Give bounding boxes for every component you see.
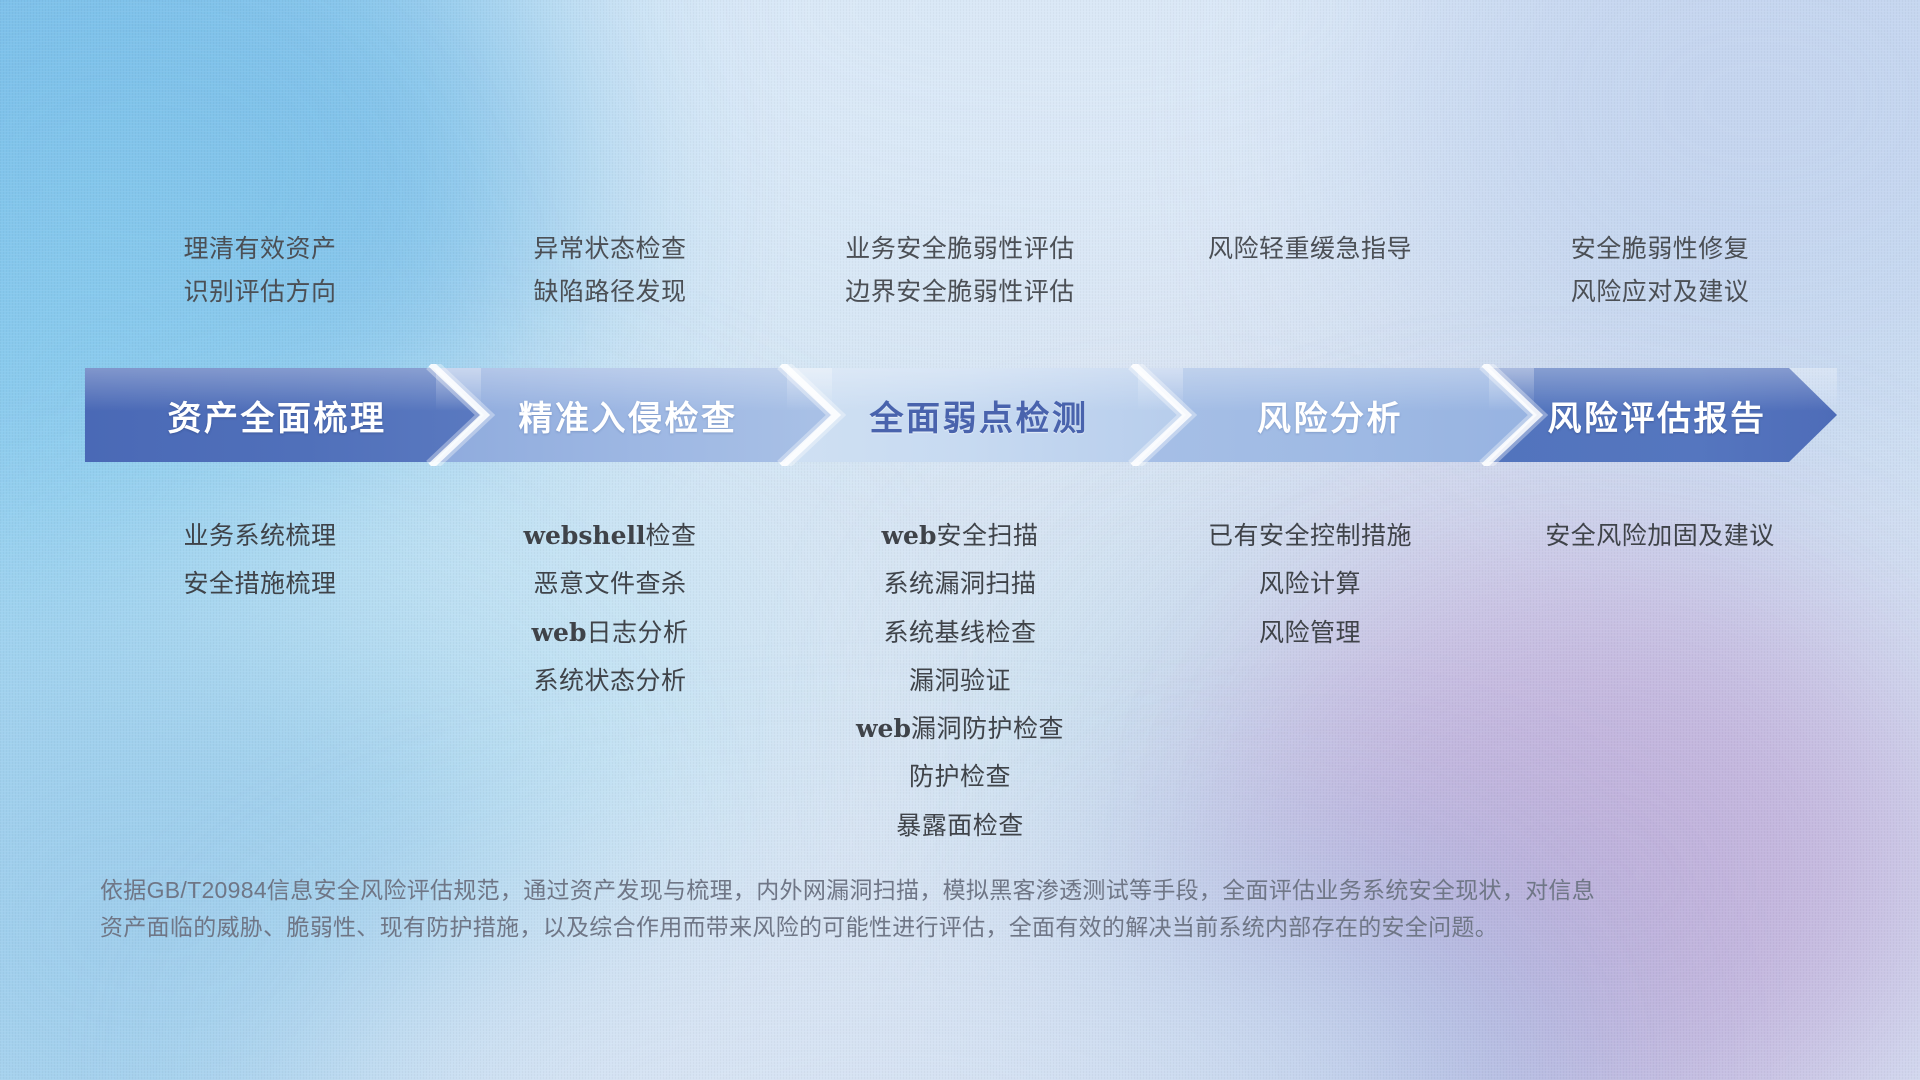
chevron-stage-intrusion-check[interactable]: 精准入侵检查 bbox=[436, 368, 832, 462]
top-note: 识别评估方向 bbox=[85, 271, 435, 314]
bottom-note-rest: 系统基线检查 bbox=[883, 619, 1036, 647]
bottom-note: 风险管理 bbox=[1135, 609, 1485, 657]
bottom-note-lead: web bbox=[856, 714, 911, 743]
top-note: 理清有效资产 bbox=[85, 228, 435, 271]
bottom-note-rest: 风险管理 bbox=[1259, 619, 1361, 647]
bottom-note: web安全扫描 bbox=[785, 512, 1135, 560]
bottom-note-rest: 恶意文件查杀 bbox=[533, 570, 686, 598]
bottom-note: 防护检查 bbox=[785, 753, 1135, 801]
bottom-note: 风险计算 bbox=[1135, 560, 1485, 608]
top-note: 安全脆弱性修复 bbox=[1485, 228, 1835, 271]
bottom-note-lead: web bbox=[882, 521, 937, 550]
bottom-note-rest: 漏洞防护检查 bbox=[911, 715, 1064, 743]
top-note: 边界安全脆弱性评估 bbox=[785, 271, 1135, 314]
bottom-note: 恶意文件查杀 bbox=[435, 560, 785, 608]
bottom-note: 系统基线检查 bbox=[785, 609, 1135, 657]
bottom-note: 业务系统梳理 bbox=[85, 512, 435, 560]
process-chevron-banner: 资产全面梳理 bbox=[85, 368, 1837, 462]
top-note: 缺陷路径发现 bbox=[435, 271, 785, 314]
chevron-stage-asset-inventory[interactable]: 资产全面梳理 bbox=[85, 368, 481, 462]
chevron-stage-risk-analysis[interactable]: 风险分析 bbox=[1138, 368, 1534, 462]
top-note: 风险轻重缓急指导 bbox=[1135, 228, 1485, 271]
bottom-note-rest: 系统状态分析 bbox=[533, 667, 686, 695]
slide-canvas: 理清有效资产 识别评估方向 异常状态检查 缺陷路径发现 业务安全脆弱性评估 边界… bbox=[0, 0, 1920, 1080]
bottom-notes-intrusion-check: webshell检查 恶意文件查杀 web日志分析 系统状态分析 bbox=[435, 512, 785, 850]
top-notes-intrusion-check: 异常状态检查 缺陷路径发现 bbox=[435, 228, 785, 314]
bottom-notes-weakness-detection: web安全扫描 系统漏洞扫描 系统基线检查 漏洞验证 web漏洞防护检查 防护检… bbox=[785, 512, 1135, 850]
chevron-stage-risk-report[interactable]: 风险评估报告 bbox=[1489, 368, 1837, 462]
bottom-note-rest: 日志分析 bbox=[586, 619, 688, 647]
top-notes-weakness-detection: 业务安全脆弱性评估 边界安全脆弱性评估 bbox=[785, 228, 1135, 314]
chevron-label: 全面弱点检测 bbox=[870, 391, 1089, 440]
bottom-note: 系统状态分析 bbox=[435, 657, 785, 705]
footer-line: 依据GB/T20984信息安全风险评估规范，通过资产发现与梳理，内外网漏洞扫描，… bbox=[100, 872, 1660, 909]
footer-description: 依据GB/T20984信息安全风险评估规范，通过资产发现与梳理，内外网漏洞扫描，… bbox=[100, 872, 1660, 947]
top-notes-asset-inventory: 理清有效资产 识别评估方向 bbox=[85, 228, 435, 314]
bottom-note: 暴露面检查 bbox=[785, 802, 1135, 850]
bottom-note: 安全措施梳理 bbox=[85, 560, 435, 608]
bottom-note-lead: web bbox=[532, 618, 587, 647]
bottom-note-rest: 系统漏洞扫描 bbox=[883, 570, 1036, 598]
chevron-label: 风险分析 bbox=[1257, 391, 1403, 440]
top-notes-risk-report: 安全脆弱性修复 风险应对及建议 bbox=[1485, 228, 1835, 314]
bottom-note-rest: 安全措施梳理 bbox=[183, 570, 336, 598]
bottom-note: 已有安全控制措施 bbox=[1135, 512, 1485, 560]
bottom-note-rest: 已有安全控制措施 bbox=[1208, 522, 1412, 550]
chevron-label: 风险评估报告 bbox=[1548, 391, 1767, 440]
bottom-note-rest: 安全风险加固及建议 bbox=[1545, 522, 1775, 550]
chevron-label: 资产全面梳理 bbox=[168, 391, 387, 440]
bottom-note-rest: 暴露面检查 bbox=[896, 812, 1024, 840]
bottom-note: 系统漏洞扫描 bbox=[785, 560, 1135, 608]
bottom-note-rest: 漏洞验证 bbox=[909, 667, 1011, 695]
bottom-note: 漏洞验证 bbox=[785, 657, 1135, 705]
top-notes-row: 理清有效资产 识别评估方向 异常状态检查 缺陷路径发现 业务安全脆弱性评估 边界… bbox=[85, 228, 1835, 314]
top-note: 业务安全脆弱性评估 bbox=[785, 228, 1135, 271]
bottom-note-rest: 风险计算 bbox=[1259, 570, 1361, 598]
bottom-note-rest: 检查 bbox=[646, 522, 697, 550]
bottom-notes-risk-report: 安全风险加固及建议 bbox=[1485, 512, 1835, 850]
bottom-note-lead: webshell bbox=[523, 521, 645, 550]
bottom-note: 安全风险加固及建议 bbox=[1485, 512, 1835, 560]
chevron-stage-weakness-detection[interactable]: 全面弱点检测 bbox=[787, 368, 1183, 462]
top-note: 异常状态检查 bbox=[435, 228, 785, 271]
bottom-note-rest: 业务系统梳理 bbox=[183, 522, 336, 550]
bottom-note-rest: 安全扫描 bbox=[936, 522, 1038, 550]
bottom-note: webshell检查 bbox=[435, 512, 785, 560]
bottom-notes-row: 业务系统梳理 安全措施梳理 webshell检查 恶意文件查杀 web日志分析 … bbox=[85, 512, 1835, 850]
top-notes-risk-analysis: 风险轻重缓急指导 bbox=[1135, 228, 1485, 314]
bottom-notes-risk-analysis: 已有安全控制措施 风险计算 风险管理 bbox=[1135, 512, 1485, 850]
bottom-note: web漏洞防护检查 bbox=[785, 705, 1135, 753]
bottom-notes-asset-inventory: 业务系统梳理 安全措施梳理 bbox=[85, 512, 435, 850]
footer-line: 资产面临的威胁、脆弱性、现有防护措施，以及综合作用而带来风险的可能性进行评估，全… bbox=[100, 909, 1660, 946]
top-note: 风险应对及建议 bbox=[1485, 271, 1835, 314]
chevron-label: 精准入侵检查 bbox=[519, 391, 738, 440]
bottom-note: web日志分析 bbox=[435, 609, 785, 657]
bottom-note-rest: 防护检查 bbox=[909, 763, 1011, 791]
